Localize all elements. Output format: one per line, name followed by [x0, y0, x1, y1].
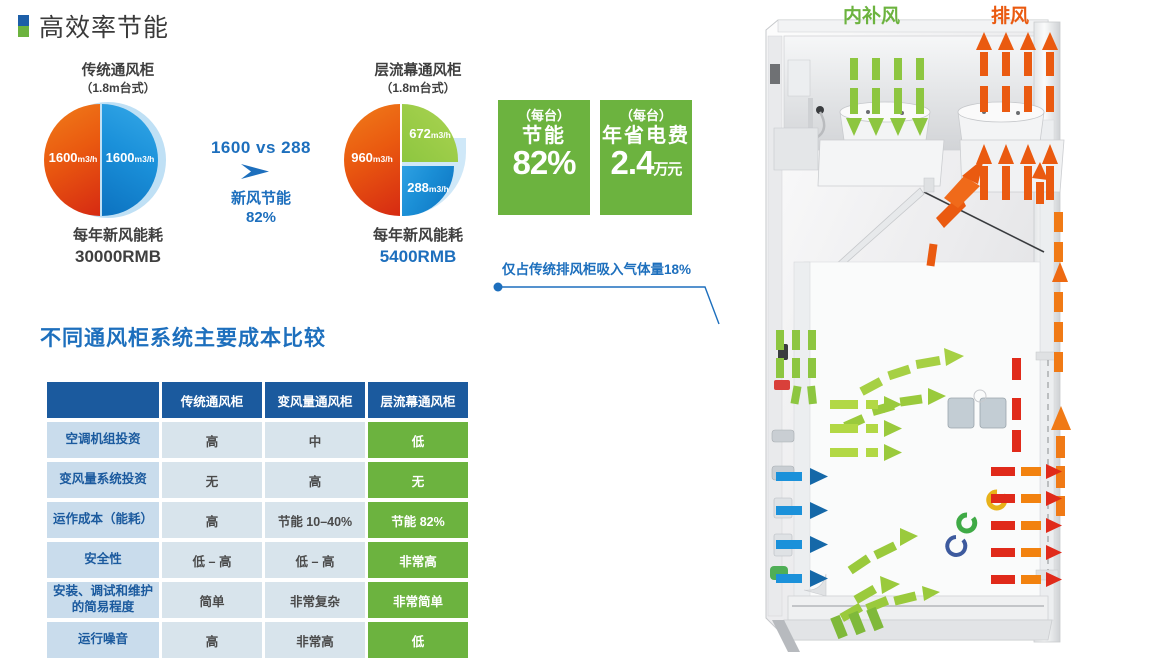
laminar-hood-pie: 960m3/h 672m3/h 288m3/h [318, 104, 518, 216]
cell-traditional: 高 [162, 502, 262, 538]
fume-hood-diagram: 内补风 排风 内补风 排风 室内新风 室内 新风 [748, 0, 1149, 660]
cell-vav: 非常复杂 [265, 582, 365, 618]
leader-line [493, 278, 733, 348]
badge-cost-saving: （每台） 年省电费 2.4万元 [600, 100, 692, 215]
row-label: 运行噪音 [47, 622, 159, 658]
fume-hood-illustration: 内补风 排风 [748, 0, 1149, 660]
table-corner-cell [47, 382, 159, 418]
table-row: 空调机组投资 高 中 低 [47, 422, 468, 458]
cell-laminar: 低 [368, 422, 468, 458]
cell-laminar: 低 [368, 622, 468, 658]
cell-traditional: 高 [162, 422, 262, 458]
comparison-headline: 1600 vs 288 [196, 138, 326, 158]
badge-metric-value: 82% [512, 146, 575, 181]
laminar-hood-subtitle: （1.8m台式） [318, 81, 518, 96]
comparison-caption-2: 82% [196, 209, 326, 228]
table-row: 安装、调试和维护的简易程度 简单 非常复杂 非常简单 [47, 582, 468, 618]
cell-traditional: 简单 [162, 582, 262, 618]
laminar-hood-footer: 每年新风能耗 5400RMB [318, 226, 518, 268]
traditional-hood-title: 传统通风柜 （1.8m台式） [18, 62, 218, 96]
badge-per-unit-label: （每台） [518, 109, 570, 123]
cell-traditional: 低 – 高 [162, 542, 262, 578]
cell-laminar: 非常简单 [368, 582, 468, 618]
cell-vav: 高 [265, 462, 365, 498]
label-exhaust: 排风 [991, 4, 1029, 27]
cell-laminar: 无 [368, 462, 468, 498]
laminar-hood-title: 层流幕通风柜 （1.8m台式） [318, 62, 518, 96]
cell-laminar: 节能 82% [368, 502, 468, 538]
badge-metric-value: 2.4万元 [611, 146, 682, 181]
traditional-hood-subtitle: （1.8m台式） [18, 81, 218, 96]
traditional-hood-block: 传统通风柜 （1.8m台式） 1600m3/h 1600m3/h 每年新风能耗 … [18, 62, 218, 268]
pie-slice-label-makeup: 1600m3/h [102, 150, 158, 165]
intake-note-text: 仅占传统排风柜吸入气体量18% [502, 258, 691, 278]
comparison-center: 1600 vs 288 新风节能 82% [196, 138, 326, 228]
cell-traditional: 高 [162, 622, 262, 658]
cell-vav: 中 [265, 422, 365, 458]
table-header-row: 传统通风柜 变风量通风柜 层流幕通风柜 [47, 382, 468, 418]
badge-per-unit-label: （每台） [620, 109, 672, 123]
table-row: 运作成本（能耗） 高 节能 10–40% 节能 82% [47, 502, 468, 538]
pie-slice-label-exhaust: 960m3/h [344, 150, 400, 165]
cell-vav: 非常高 [265, 622, 365, 658]
laminar-hood-block: 层流幕通风柜 （1.8m台式） 960m3/h 672m3/h 288m3/h … [318, 62, 518, 268]
right-arrow-icon [239, 162, 283, 182]
row-label: 安装、调试和维护的简易程度 [47, 582, 159, 618]
cell-vav: 节能 10–40% [265, 502, 365, 538]
row-label: 运作成本（能耗） [47, 502, 159, 538]
row-label: 变风量系统投资 [47, 462, 159, 498]
label-internal-makeup-air: 内补风 [843, 4, 900, 27]
table-row: 变风量系统投资 无 高 无 [47, 462, 468, 498]
pie-slice-label-fresh-air: 288m3/h [402, 180, 454, 195]
table-col-traditional: 传统通风柜 [162, 382, 262, 418]
table-col-laminar: 层流幕通风柜 [368, 382, 468, 418]
cell-laminar: 非常高 [368, 542, 468, 578]
traditional-hood-footer: 每年新风能耗 30000RMB [18, 226, 218, 268]
table-row: 安全性 低 – 高 低 – 高 非常高 [47, 542, 468, 578]
row-label: 安全性 [47, 542, 159, 578]
pie-slice-label-internal-makeup: 672m3/h [402, 126, 458, 141]
table-title: 不同通风柜系统主要成本比较 [40, 322, 326, 352]
infographic-page: 高效率节能 传统通风柜 （1.8m台式） 1600m3/h 1600m3/h 每… [0, 0, 1149, 660]
table-col-vav: 变风量通风柜 [265, 382, 365, 418]
traditional-hood-cost: 30000RMB [18, 246, 218, 268]
pie-slice-label-exhaust: 1600m3/h [46, 150, 100, 165]
cell-vav: 低 – 高 [265, 542, 365, 578]
savings-badges: （每台） 节能 82% （每台） 年省电费 2.4万元 [498, 100, 692, 215]
badge-energy-saving: （每台） 节能 82% [498, 100, 590, 215]
leader-dot [494, 283, 503, 292]
table-row: 运行噪音 高 非常高 低 [47, 622, 468, 658]
comparison-caption-1: 新风节能 [196, 190, 326, 209]
row-label: 空调机组投资 [47, 422, 159, 458]
laminar-hood-cost: 5400RMB [318, 246, 518, 268]
traditional-hood-pie: 1600m3/h 1600m3/h [18, 104, 218, 216]
cell-traditional: 无 [162, 462, 262, 498]
cost-comparison-table: 传统通风柜 变风量通风柜 层流幕通风柜 空调机组投资 高 中 低 变风量系统投资… [44, 378, 471, 662]
